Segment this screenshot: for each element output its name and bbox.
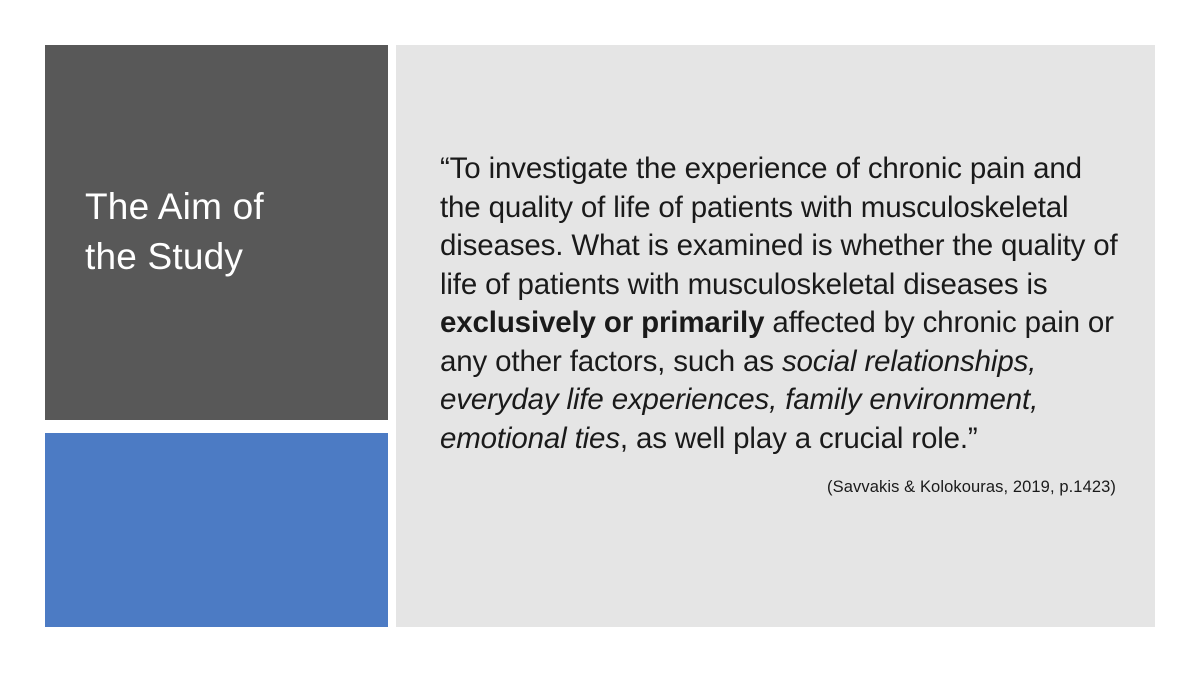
quote-segment: “To investigate the experience of chroni… xyxy=(440,152,1118,301)
content-panel: “To investigate the experience of chroni… xyxy=(396,45,1155,627)
title-block: The Aim of the Study xyxy=(45,45,388,420)
quote-text: “To investigate the experience of chroni… xyxy=(440,150,1120,458)
page-title: The Aim of the Study xyxy=(85,182,365,282)
quote-emphasis-bold: exclusively or primarily xyxy=(440,306,764,339)
accent-block-blue xyxy=(45,433,388,627)
slide-canvas: The Aim of the Study “To investigate the… xyxy=(0,0,1200,675)
quote-container: “To investigate the experience of chroni… xyxy=(440,150,1120,497)
citation-text: (Savvakis & Kolokouras, 2019, p.1423) xyxy=(440,478,1120,497)
quote-segment: , as well play a crucial role.” xyxy=(620,422,978,455)
